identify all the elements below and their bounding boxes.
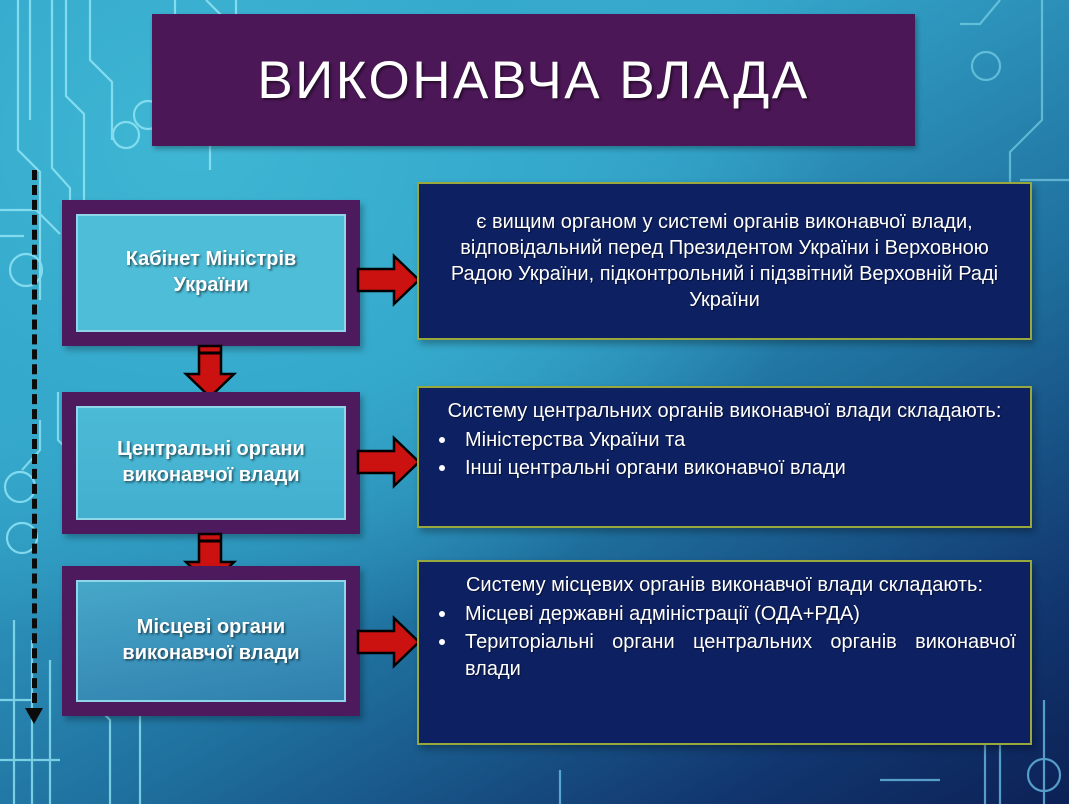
concept-box-kabinet-ministriv[interactable]: Кабінет Міністрів України bbox=[62, 200, 360, 346]
arrow-right-icon bbox=[356, 432, 422, 492]
description-box-2: Систему центральних органів виконавчої в… bbox=[417, 386, 1032, 528]
concept-box-centralni-organy[interactable]: Центральні органи виконавчої влади bbox=[62, 392, 360, 534]
concept-box-inner: Кабінет Міністрів України bbox=[76, 214, 346, 332]
page-title: ВИКОНАВЧА ВЛАДА bbox=[257, 50, 809, 111]
description-box-1: є вищим органом у системі органів викона… bbox=[417, 182, 1032, 340]
dashed-guideline-arrowhead-icon bbox=[25, 708, 43, 724]
description-heading: Систему центральних органів виконавчої в… bbox=[419, 388, 1030, 424]
list-item: Міністерства України та bbox=[419, 426, 1030, 454]
concept-box-inner: Центральні органи виконавчої влади bbox=[76, 406, 346, 520]
list-item: Територіальні органи центральних органів… bbox=[419, 628, 1030, 683]
arrow-right-icon bbox=[356, 250, 422, 310]
concept-box-label: Місцеві органи виконавчої влади bbox=[88, 615, 334, 666]
concept-box-inner: Місцеві органи виконавчої влади bbox=[76, 580, 346, 702]
description-box-3: Систему місцевих органів виконавчої влад… bbox=[417, 560, 1032, 745]
description-heading: Систему місцевих органів виконавчої влад… bbox=[419, 562, 1030, 598]
list-item: Місцеві державні адміністрації (ОДА+РДА) bbox=[419, 600, 1030, 628]
concept-box-label: Центральні органи виконавчої влади bbox=[88, 437, 334, 488]
arrow-right-icon bbox=[356, 612, 422, 672]
concept-box-miscevi-organy[interactable]: Місцеві органи виконавчої влади bbox=[62, 566, 360, 716]
list-item: Інші центральні органи виконавчої влади bbox=[419, 454, 1030, 482]
description-bullet-list: Місцеві державні адміністрації (ОДА+РДА)… bbox=[419, 600, 1030, 683]
description-bullet-list: Міністерства України та Інші центральні … bbox=[419, 426, 1030, 483]
concept-box-label: Кабінет Міністрів України bbox=[88, 247, 334, 298]
slide-canvas: ВИКОНАВЧА ВЛАДА Кабінет Міністрів Україн… bbox=[0, 0, 1069, 804]
dashed-guideline bbox=[32, 170, 37, 718]
description-text: є вищим органом у системі органів викона… bbox=[419, 209, 1030, 314]
title-banner: ВИКОНАВЧА ВЛАДА bbox=[152, 14, 915, 146]
